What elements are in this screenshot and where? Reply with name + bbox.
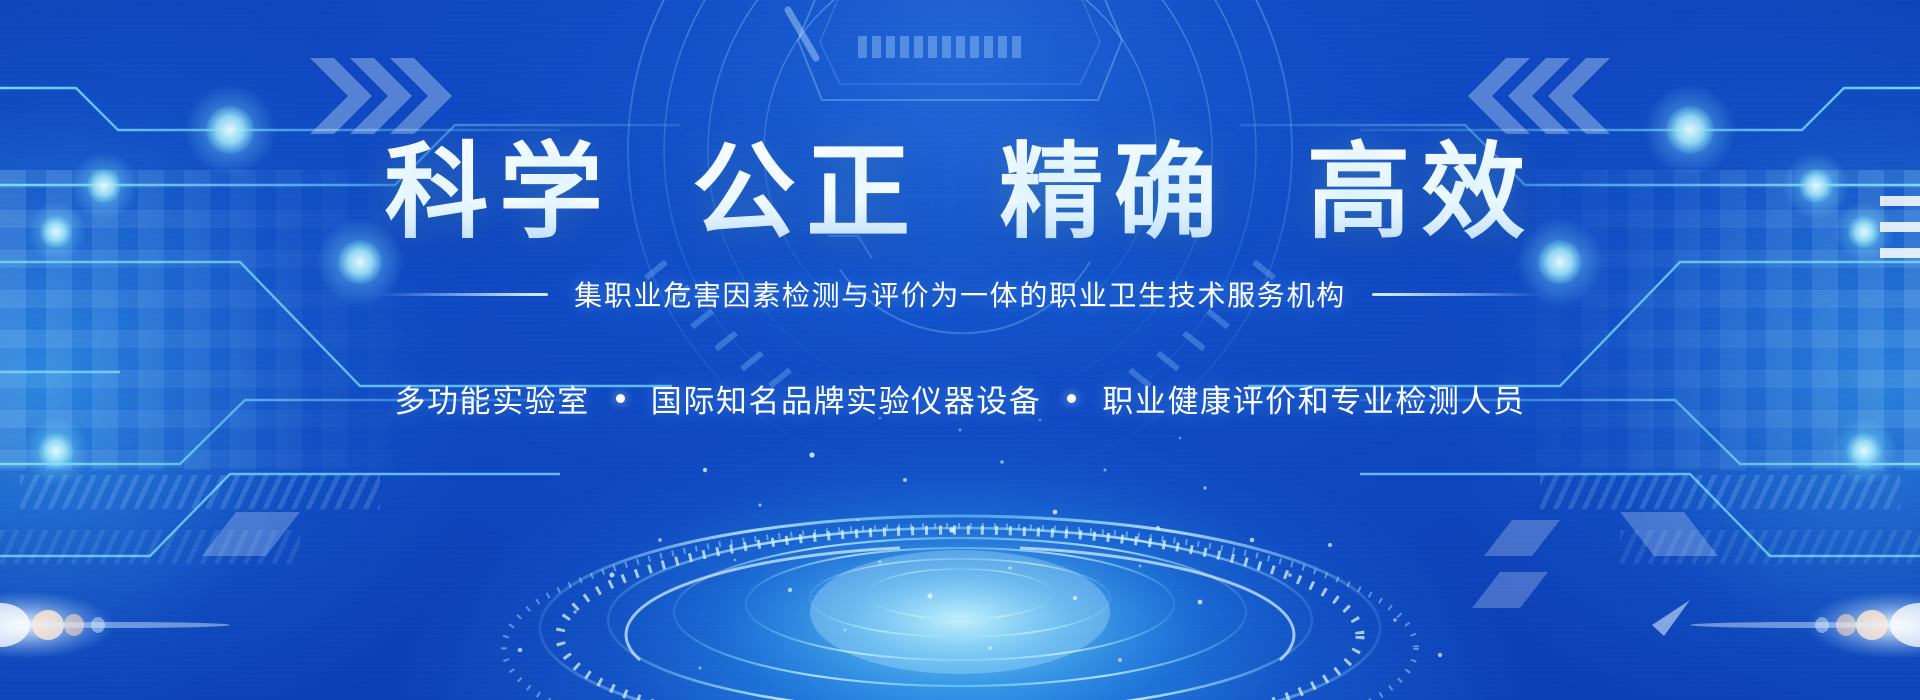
code-strip-left (20, 475, 380, 509)
tagline-separator-dot-1 (616, 394, 625, 403)
tagline-separator-dot-2 (1067, 394, 1076, 403)
banner-subtitle: 集职业危害因素检测与评价为一体的职业卫生技术服务机构 (574, 274, 1346, 314)
banner-subtitle-row: 集职业危害因素检测与评价为一体的职业卫生技术服务机构 (0, 274, 1920, 314)
tagline-item-1: 多功能实验室 (394, 376, 589, 421)
lens-flare-left (0, 590, 270, 660)
tagline-item-2: 国际知名品牌实验仪器设备 (651, 376, 1042, 421)
hero-banner: 科学 公正 精确 高效 集职业危害因素检测与评价为一体的职业卫生技术服务机构 多… (0, 0, 1920, 700)
code-strip-right (1540, 475, 1900, 509)
tagline-item-3: 职业健康评价和专业检测人员 (1102, 376, 1525, 421)
subtitle-rule-right (1372, 293, 1542, 296)
banner-content: 科学 公正 精确 高效 集职业危害因素检测与评价为一体的职业卫生技术服务机构 多… (0, 0, 1920, 421)
subtitle-rule-left (378, 293, 548, 296)
banner-tagline: 多功能实验室 国际知名品牌实验仪器设备 职业健康评价和专业检测人员 (394, 376, 1525, 421)
code-strip-right-2 (1620, 530, 1920, 564)
lens-flare-right (1650, 590, 1920, 660)
banner-title: 科学 公正 精确 高效 (385, 138, 1536, 248)
code-strip-left-2 (0, 530, 300, 564)
